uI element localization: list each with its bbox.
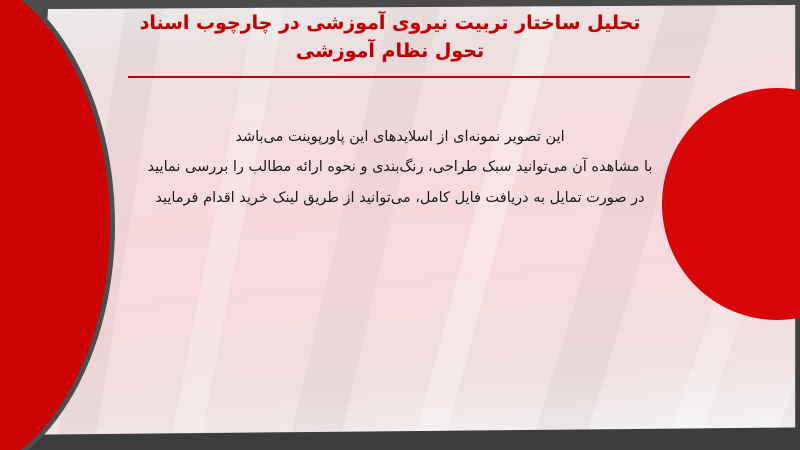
presentation-slide: تحلیل ساختار تربیت نیروی آموزشی در چارچو… xyxy=(0,0,800,450)
slide-text-content: تحلیل ساختار تربیت نیروی آموزشی در چارچو… xyxy=(0,0,800,450)
slide-title: تحلیل ساختار تربیت نیروی آموزشی در چارچو… xyxy=(110,10,670,65)
title-line-2: تحول نظام آموزشی xyxy=(110,38,670,66)
body-line-2: با مشاهده آن می‌توانید سبک طراحی، رنگ‌بن… xyxy=(120,152,680,182)
title-line-1: تحلیل ساختار تربیت نیروی آموزشی در چارچو… xyxy=(110,10,670,38)
title-underline-rule xyxy=(128,76,690,78)
slide-body-text: این تصویر نمونه‌ای از اسلایدهای این پاور… xyxy=(120,122,680,213)
body-line-3: در صورت تمایل به دریافت فایل کامل، می‌تو… xyxy=(120,183,680,213)
body-line-1: این تصویر نمونه‌ای از اسلایدهای این پاور… xyxy=(120,122,680,152)
